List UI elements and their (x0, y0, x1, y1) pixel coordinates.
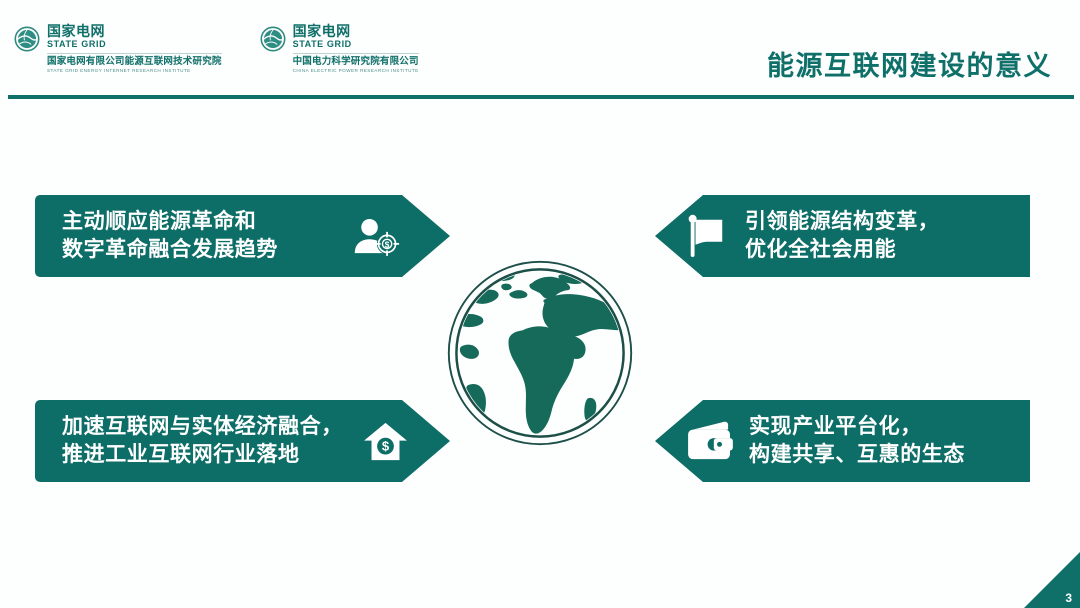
header-logo-group: 国家电网 STATE GRID 国家电网有限公司能源互联网技术研究院 STATE… (14, 24, 419, 73)
banner-top-right[interactable]: 引领能源结构变革， 优化全社会用能 (655, 195, 1030, 277)
globe-graphic (445, 258, 635, 448)
svg-text:$: $ (382, 438, 390, 453)
logo-institute-cn: 中国电力科学研究院有限公司 (293, 57, 419, 67)
person-target-money-icon: $ (352, 216, 400, 257)
page-number: 3 (1065, 592, 1072, 604)
logo-china-electric-power-research-institute: 国家电网 STATE GRID 中国电力科学研究院有限公司 CHINA ELEC… (260, 24, 419, 73)
banner-bottom-right-text: 实现产业平台化， 构建共享、互惠的生态 (749, 413, 965, 468)
house-money-icon: $ (363, 421, 408, 462)
logo-institute-cn: 国家电网有限公司能源互联网技术研究院 (47, 57, 222, 67)
logo-divider (47, 53, 222, 54)
logo-name-en: STATE GRID (47, 40, 222, 49)
banner-top-right-text: 引领能源结构变革， 优化全社会用能 (745, 208, 939, 263)
state-grid-globe-mark-icon (260, 26, 286, 52)
wallet-icon (685, 421, 735, 461)
logo-text-block: 国家电网 STATE GRID 国家电网有限公司能源互联网技术研究院 STATE… (47, 24, 222, 73)
logo-institute-en: STATE GRID ENERGY INTERNET RESEARCH INST… (47, 69, 222, 74)
logo-text-block: 国家电网 STATE GRID 中国电力科学研究院有限公司 CHINA ELEC… (293, 24, 419, 73)
logo-name-cn: 国家电网 (293, 24, 419, 38)
header-divider (8, 95, 1074, 99)
flag-icon (685, 213, 727, 259)
svg-text:$: $ (385, 239, 390, 249)
slide-canvas: 国家电网 STATE GRID 国家电网有限公司能源互联网技术研究院 STATE… (0, 0, 1080, 608)
logo-divider (293, 53, 419, 54)
page-title: 能源互联网建设的意义 (767, 44, 1052, 83)
state-grid-globe-mark-icon (14, 26, 40, 52)
banner-top-left-text: 主动顺应能源革命和 数字革命融合发展趋势 (62, 208, 352, 263)
banner-top-left[interactable]: 主动顺应能源革命和 数字革命融合发展趋势 $ (35, 195, 450, 277)
logo-name-en: STATE GRID (293, 40, 419, 49)
banner-bottom-left-text: 加速互联网与实体经济融合， 推进工业互联网行业落地 (62, 413, 363, 468)
logo-name-cn: 国家电网 (47, 24, 222, 38)
banner-bottom-right[interactable]: 实现产业平台化， 构建共享、互惠的生态 (655, 400, 1030, 482)
logo-institute-en: CHINA ELECTRIC POWER RESEARCH INSTITUTE (293, 69, 419, 74)
logo-state-grid-energy-internet-research-institute: 国家电网 STATE GRID 国家电网有限公司能源互联网技术研究院 STATE… (14, 24, 222, 73)
banner-bottom-left[interactable]: 加速互联网与实体经济融合， 推进工业互联网行业落地 $ (35, 400, 450, 482)
